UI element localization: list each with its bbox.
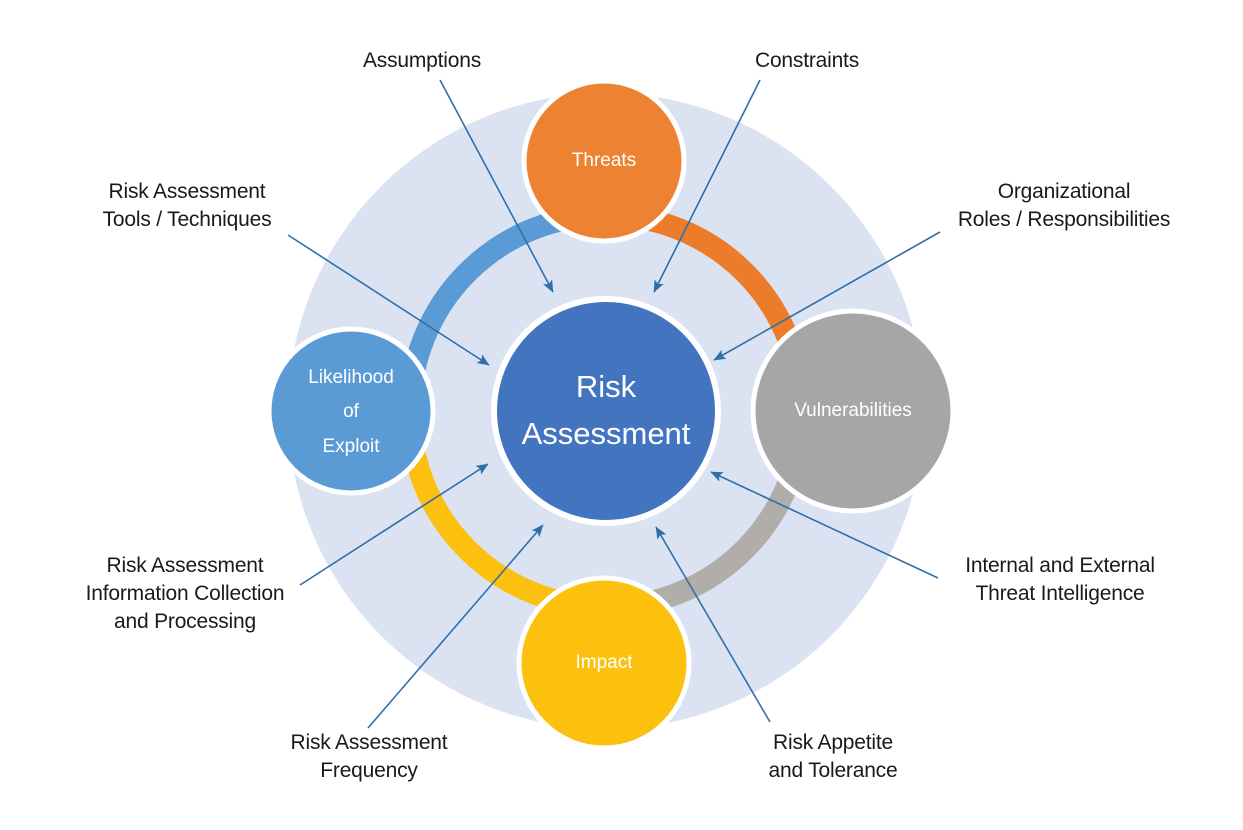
center-label-line1: Risk (576, 369, 637, 404)
callout-org-roles: Organizational Roles / Responsibilities (920, 178, 1208, 234)
callout-tools-techniques: Risk Assessment Tools / Techniques (62, 178, 312, 234)
callout-appetite-tolerance: Risk Appetite and Tolerance (722, 729, 944, 785)
callout-info-collection: Risk Assessment Information Collection a… (44, 552, 326, 636)
center-circle[interactable] (494, 299, 718, 523)
callout-assumptions: Assumptions (332, 47, 512, 75)
callout-threat-intelligence: Internal and External Threat Intelligenc… (920, 552, 1200, 608)
node-likelihood-label-line1: Likelihood (308, 367, 394, 388)
node-vulnerabilities-label: Vulnerabilities (794, 400, 912, 421)
risk-assessment-diagram: Threats Vulnerabilities Impact Likelihoo… (0, 0, 1243, 830)
center-label-line2: Assessment (522, 416, 691, 451)
node-threats-label: Threats (572, 150, 636, 171)
diagram-canvas: Threats Vulnerabilities Impact Likelihoo… (0, 0, 1243, 830)
callout-constraints: Constraints (722, 47, 892, 75)
node-likelihood-label-line2: of (343, 401, 360, 422)
callout-frequency: Risk Assessment Frequency (242, 729, 496, 785)
node-impact-label: Impact (575, 652, 633, 673)
node-likelihood-label-line3: Exploit (322, 436, 380, 457)
